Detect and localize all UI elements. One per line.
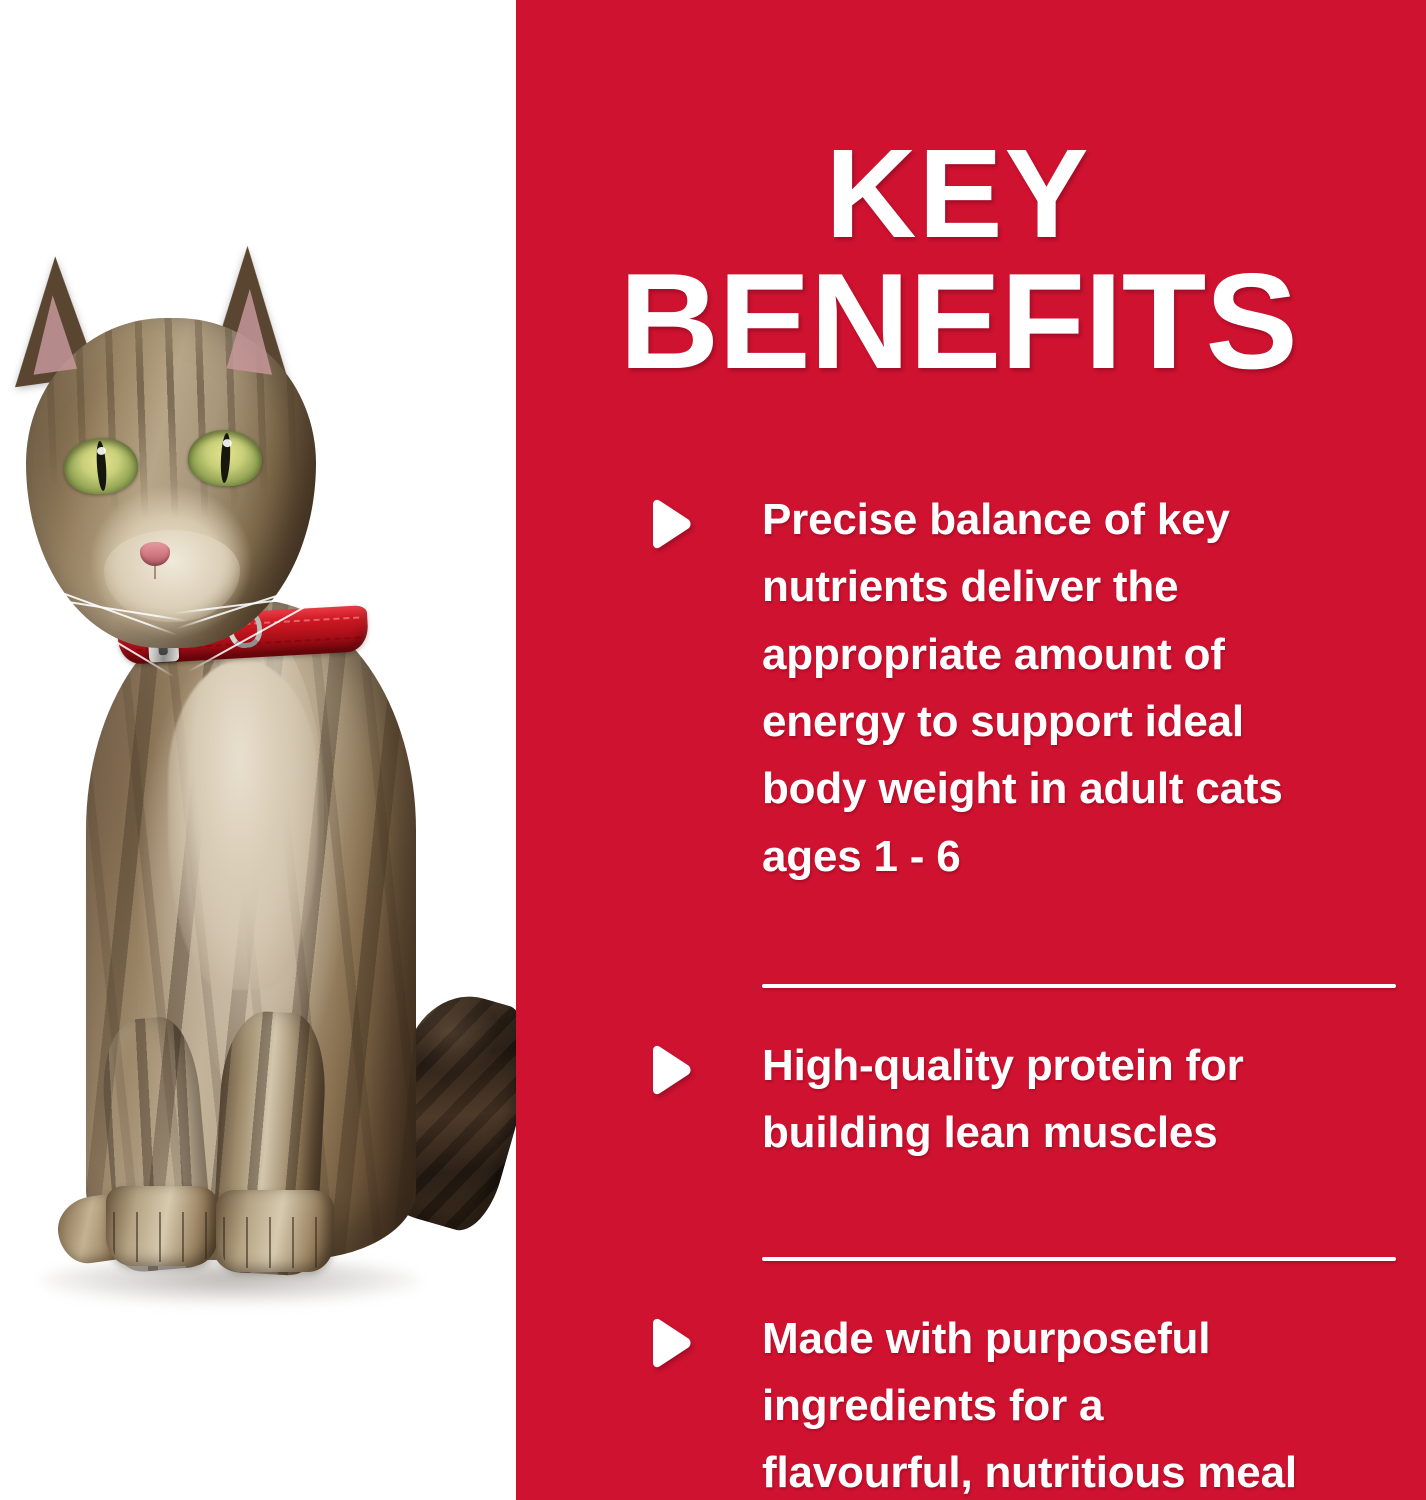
cat-eye-glint-right (223, 439, 232, 447)
page-title-line-2: BENEFITS (507, 255, 1409, 388)
cat-illustration (0, 0, 516, 1500)
benefit-divider-1 (762, 984, 1396, 988)
benefit-divider-2 (762, 1257, 1396, 1261)
benefit-item-1: Precise balance of key nutrients deliver… (646, 486, 1370, 890)
cat-eye-glint-left (97, 447, 107, 456)
key-benefits-page: KEY BENEFITS Precise balance of key nutr… (0, 0, 1426, 1500)
benefit-item-3: Made with purposeful ingredients for a f… (646, 1305, 1370, 1500)
cat-photo-panel (0, 0, 516, 1500)
cat-paw-right (216, 1190, 334, 1272)
cat-paw-left (106, 1186, 218, 1266)
benefits-panel: KEY BENEFITS Precise balance of key nutr… (516, 0, 1426, 1500)
benefit-text-2: High-quality protein for building lean m… (762, 1032, 1307, 1167)
play-triangle-icon (646, 1317, 692, 1369)
spacer-2 (646, 1167, 1370, 1213)
play-triangle-icon (646, 1044, 692, 1096)
play-triangle-icon (646, 498, 692, 550)
benefit-text-3: Made with purposeful ingredients for a f… (762, 1305, 1307, 1500)
benefit-text-1: Precise balance of key nutrients deliver… (762, 486, 1307, 890)
benefits-list: Precise balance of key nutrients deliver… (646, 486, 1370, 1500)
benefit-item-2: High-quality protein for building lean m… (646, 1032, 1370, 1167)
cat-chest-fur (168, 660, 318, 990)
page-title: KEY BENEFITS (516, 132, 1400, 389)
page-title-line-1: KEY (516, 132, 1400, 255)
spacer-1 (646, 890, 1370, 940)
